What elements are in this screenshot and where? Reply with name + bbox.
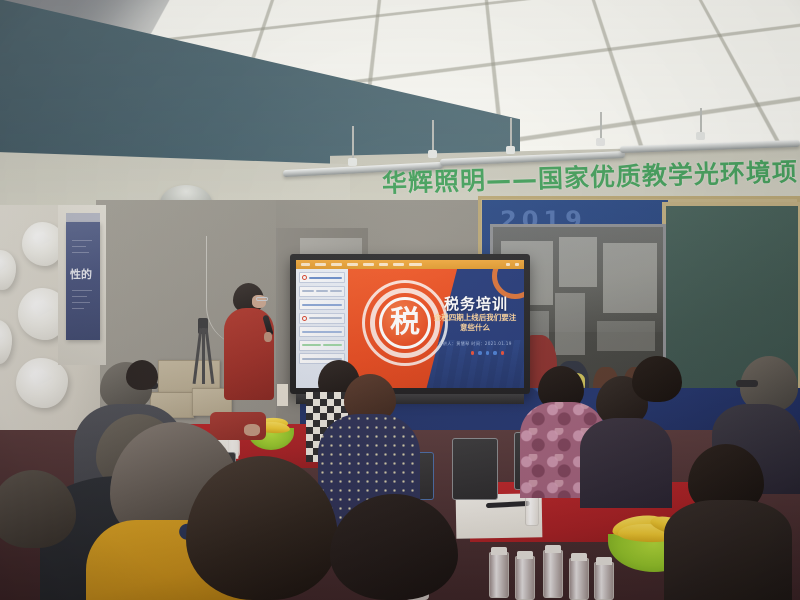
tripod-stand: [192, 318, 214, 384]
slide-thumbnail[interactable]: [299, 340, 345, 351]
app-toolbar[interactable]: [296, 260, 524, 269]
classroom-seminar-photo: 华辉照明——国家优质教学光环境项目批达 性的 2019: [0, 0, 800, 600]
tax-seal-badge: 税: [379, 297, 431, 349]
toolbar-item[interactable]: [315, 263, 326, 266]
bottle-cap: [571, 553, 587, 561]
lamp-rod: [700, 108, 702, 134]
lamp-rod: [510, 118, 512, 148]
active-slide[interactable]: 税 税务培训 金税四期上线后我们要注 意些什么 主讲人：黄慧琴 时间：2021.…: [348, 269, 524, 388]
lamp-node: [596, 138, 605, 146]
bottle-cap: [517, 551, 533, 559]
toolbar-item[interactable]: [409, 263, 422, 266]
presenter-held-paper: [277, 384, 288, 406]
slide-thumbnail[interactable]: [299, 299, 345, 310]
slide-thumbnail[interactable]: [299, 326, 345, 337]
toolbar-item[interactable]: [301, 263, 310, 266]
lamp-node: [506, 146, 515, 154]
bottle-cap: [596, 557, 612, 565]
bottle-cap: [491, 547, 507, 555]
wall-poster-blue: 性的: [66, 222, 100, 340]
toolbar-item[interactable]: [515, 263, 519, 266]
glasses-icon: [736, 380, 758, 387]
audience-body: [664, 500, 792, 600]
seal-character: 税: [390, 308, 420, 338]
lamp-node: [696, 132, 705, 140]
water-bottle: [489, 552, 509, 598]
glasses-icon: [256, 297, 268, 301]
lamp-node: [428, 150, 437, 158]
slide-progress-dots: [471, 351, 505, 355]
water-bottle: [569, 558, 589, 600]
audience-head: [126, 360, 158, 390]
lamp-rod: [432, 120, 434, 152]
poster-text: 性的: [70, 266, 92, 282]
toolbar-item[interactable]: [379, 263, 388, 266]
slide-subtitle-line1: 金税四期上线后我们要注: [430, 313, 520, 323]
slide-subtitle: 金税四期上线后我们要注 意些什么: [430, 313, 520, 333]
wall-decor-disc: [16, 358, 68, 408]
toolbar-item[interactable]: [506, 263, 510, 266]
seal-icon: [302, 316, 307, 321]
seal-icon: [302, 275, 307, 280]
water-bottle: [543, 550, 563, 598]
lamp-node: [348, 158, 357, 166]
water-bottle: [594, 562, 614, 600]
toolbar-item[interactable]: [393, 263, 404, 266]
slide-meta-text: 主讲人：黄慧琴 时间：2021.01.19: [432, 341, 518, 347]
toolbar-item[interactable]: [363, 263, 374, 266]
slide-title: 税务培训: [433, 293, 519, 314]
presenter-hand: [264, 332, 272, 342]
audience-body: [580, 418, 672, 508]
audience-hand: [244, 424, 260, 436]
bottle-cap: [545, 545, 561, 553]
audience-head: [632, 356, 682, 402]
slide-thumbnail[interactable]: [299, 313, 345, 324]
slide-subtitle-line2: 意些什么: [430, 323, 520, 333]
water-bottle: [515, 556, 535, 600]
toolbar-item[interactable]: [347, 263, 358, 266]
chair[interactable]: [452, 438, 498, 500]
lamp-rod: [352, 126, 354, 160]
slide-thumbnail[interactable]: [299, 272, 345, 283]
lamp-rod: [600, 112, 602, 140]
slide-thumbnail[interactable]: [299, 286, 345, 297]
toolbar-item[interactable]: [331, 263, 342, 266]
